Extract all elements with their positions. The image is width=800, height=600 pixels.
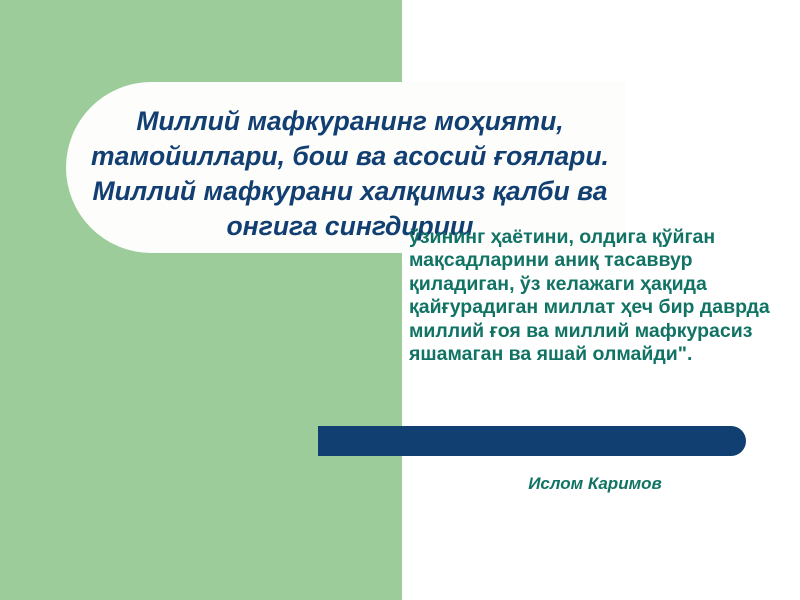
slide-title: Миллий мафкуранинг моҳияти, тамойиллари,…	[60, 104, 640, 244]
presentation-slide: Миллий мафкуранинг моҳияти, тамойиллари,…	[0, 0, 800, 600]
decorative-blue-bar	[318, 426, 746, 456]
quote-attribution: Ислом Каримов	[430, 473, 760, 495]
quote-body-text: ўзининг ҳаётини, олдига қўйган мақсадлар…	[409, 226, 781, 366]
